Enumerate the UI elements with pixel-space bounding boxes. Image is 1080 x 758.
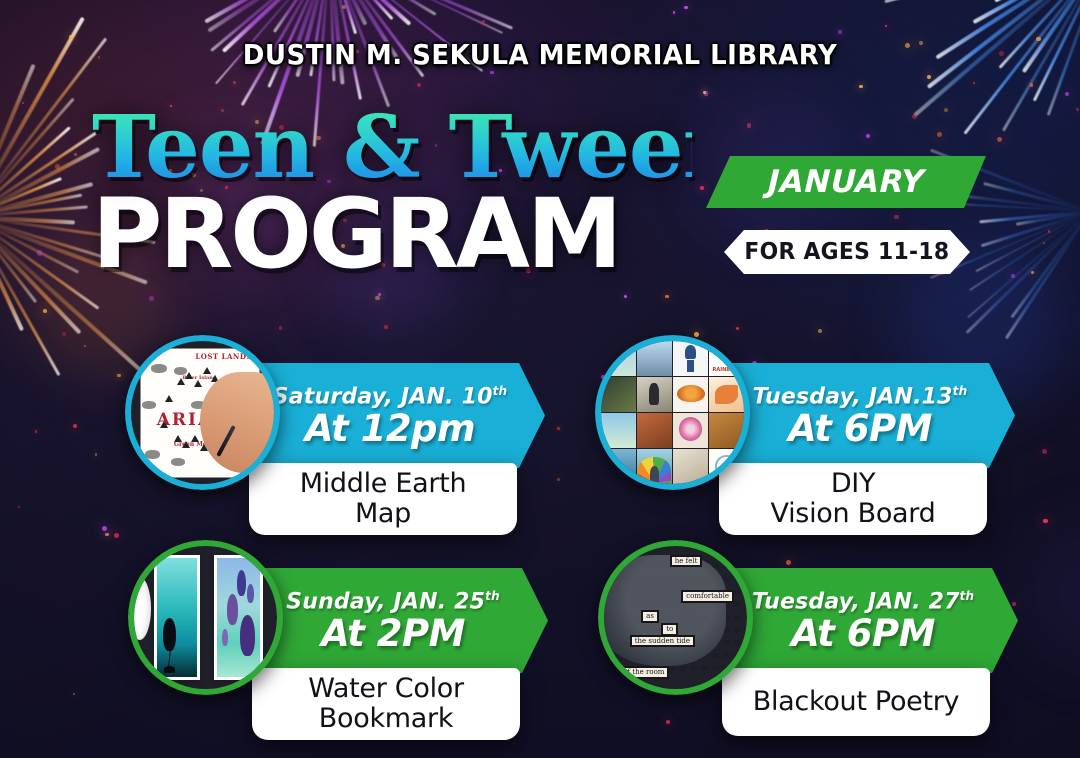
firework-ray <box>969 210 1080 291</box>
firework-ray <box>328 0 367 25</box>
event-time: At 6PM <box>791 615 935 654</box>
spark-dot <box>1076 108 1079 111</box>
event-date: Saturday, JAN. 10th <box>273 384 508 409</box>
event-thumbnail-blackout-poetry: he felt comfortable as to the sudden tid… <box>598 540 753 695</box>
firework-ray <box>329 0 393 20</box>
event-banner: Sunday, JAN. 25th At 2PM <box>238 568 548 673</box>
glow-blob <box>1020 520 1080 670</box>
event-thumbnail-watercolor-bookmarks <box>128 540 283 695</box>
thumbnail-ring <box>598 540 753 695</box>
event-title: Middle EarthMap <box>300 469 467 529</box>
firework-ray <box>0 215 105 259</box>
firework-ray <box>975 210 1080 272</box>
thumbnail-ring <box>128 540 283 695</box>
firework-ray <box>329 0 513 30</box>
spark-dot <box>490 71 494 75</box>
spark-dot <box>673 11 675 13</box>
firework-ray <box>0 216 61 377</box>
event-banner: Tuesday, JAN. 27th At 6PM <box>708 568 1018 673</box>
firework-ray <box>1047 0 1080 116</box>
spark-dot <box>624 295 627 298</box>
event-title: DIYVision Board <box>771 469 936 529</box>
spark-dot <box>747 123 752 128</box>
event-date: Tuesday, JAN.13th <box>753 384 968 409</box>
spark-dot <box>1043 242 1045 244</box>
spark-dot <box>417 83 421 87</box>
event-card[interactable]: Sunday, JAN. 25th At 2PM Water ColorBook… <box>128 540 548 745</box>
firework-ray <box>972 0 1080 24</box>
spark-dot <box>22 102 25 105</box>
firework-ray <box>966 210 1080 333</box>
firework-ray <box>0 193 83 218</box>
poster-canvas: DUSTIN M. SEKULA MEMORIAL LIBRARY Teen &… <box>0 0 1080 758</box>
spark-dot <box>114 533 119 538</box>
event-thumbnail-vision-board: RAINBOWS <box>595 335 750 490</box>
event-time: At 12pm <box>305 410 475 449</box>
event-title-box: Middle EarthMap <box>249 463 517 535</box>
firework-ray <box>0 64 35 218</box>
spark-dot <box>84 345 86 347</box>
spark-dot <box>997 137 1002 142</box>
event-title: Blackout Poetry <box>753 687 960 717</box>
spark-dot <box>866 134 870 138</box>
firework-ray <box>207 0 331 33</box>
event-time: At 6PM <box>788 410 932 449</box>
event-card[interactable]: Saturday, JAN. 10th At 12pm Middle Earth… <box>125 335 545 540</box>
firework-ray <box>273 0 331 33</box>
firework-ray <box>994 0 1080 2</box>
title-line-teen-tween: Teen & Tween <box>92 108 692 187</box>
spark-dot <box>973 82 976 85</box>
spark-dot <box>1043 519 1047 523</box>
spark-dot <box>838 30 842 34</box>
thumbnail-ring <box>595 335 750 490</box>
thumbnail-ring <box>125 335 280 490</box>
spark-dot <box>665 295 668 298</box>
poster-title: Teen & Tween PROGRAM <box>92 108 692 280</box>
firework-ray <box>329 0 437 16</box>
firework-ray <box>0 177 62 218</box>
event-date: Sunday, JAN. 25th <box>286 589 500 614</box>
month-badge: JANUARY <box>706 156 986 208</box>
month-badge-label: JANUARY <box>767 164 924 200</box>
event-banner: Tuesday, JAN.13th At 6PM <box>705 363 1015 468</box>
event-card[interactable]: Tuesday, JAN.13th At 6PM DIYVision Board… <box>595 335 1015 540</box>
spark-dot <box>557 427 559 429</box>
firework-ray <box>0 126 71 218</box>
spark-dot <box>1065 92 1070 97</box>
spark-dot <box>704 91 709 96</box>
firework-ray <box>0 132 97 218</box>
spark-dot <box>279 326 283 330</box>
spark-dot <box>912 114 917 119</box>
spark-dot <box>818 329 822 333</box>
spark-dot <box>859 85 862 88</box>
firework-ray <box>981 210 1080 247</box>
spark-dot <box>233 81 236 84</box>
event-date: Tuesday, JAN. 27th <box>752 589 975 614</box>
event-banner: Saturday, JAN. 10th At 12pm <box>235 363 545 468</box>
firework-ray <box>0 182 93 219</box>
spark-dot <box>18 506 20 508</box>
spark-dot <box>102 526 107 531</box>
firework-ray <box>0 215 79 274</box>
spark-dot <box>43 309 47 313</box>
firework-ray <box>0 147 100 218</box>
event-time: At 2PM <box>321 615 465 654</box>
event-title: Water ColorBookmark <box>308 674 464 734</box>
ages-badge-label: FOR AGES 11-18 <box>745 239 950 265</box>
firework-ray <box>329 0 412 26</box>
spark-dot <box>73 693 75 695</box>
firework-ray <box>1011 211 1080 319</box>
title-line-program: PROGRAM <box>92 189 692 280</box>
spark-dot <box>73 424 77 428</box>
firework-ray <box>0 216 37 304</box>
spark-dot <box>885 25 888 28</box>
spark-dot <box>37 250 42 255</box>
spark-dot <box>55 164 59 168</box>
firework-ray <box>967 210 1080 318</box>
firework-ray <box>0 98 75 218</box>
firework-ray <box>885 0 1080 3</box>
firework-ray <box>328 0 357 34</box>
spark-dot <box>927 75 931 79</box>
event-title-box: DIYVision Board <box>719 463 987 535</box>
firework-ray <box>0 205 87 218</box>
firework-ray <box>0 215 74 224</box>
firework-ray <box>1016 210 1080 226</box>
event-title-box: Water ColorBookmark <box>252 668 520 740</box>
spark-dot <box>149 296 154 301</box>
spark-dot <box>894 215 899 220</box>
event-title-box: Blackout Poetry <box>722 668 990 736</box>
library-name: DUSTIN M. SEKULA MEMORIAL LIBRARY <box>38 38 1042 71</box>
spark-dot <box>684 6 688 10</box>
spark-dot <box>105 533 108 536</box>
spark-dot <box>74 153 77 156</box>
spark-dot <box>1048 230 1051 233</box>
firework-ray <box>979 210 1080 223</box>
spark-dot <box>482 20 485 23</box>
spark-dot <box>384 325 388 329</box>
spark-dot <box>557 478 560 481</box>
spark-dot <box>1030 83 1033 86</box>
spark-dot <box>95 453 98 456</box>
firework-ray <box>205 0 331 23</box>
spark-dot <box>1042 449 1047 454</box>
firework-ray <box>329 0 502 34</box>
spark-dot <box>378 293 381 296</box>
event-thumbnail-middle-earth-map: LOST LANDS ARIADOR Green Mountains River… <box>125 335 280 490</box>
spark-dot <box>342 5 346 9</box>
spark-dot <box>703 91 706 94</box>
firework-ray <box>0 215 100 310</box>
spark-dot <box>937 132 942 137</box>
spark-dot <box>117 374 120 377</box>
ages-badge: FOR AGES 11-18 <box>724 230 970 274</box>
spark-dot <box>375 296 379 300</box>
spark-dot <box>736 327 739 330</box>
spark-dot <box>35 430 37 432</box>
spark-dot <box>62 332 66 336</box>
spark-dot <box>944 108 949 113</box>
spark-dot <box>1011 274 1015 278</box>
firework-ray <box>0 216 81 334</box>
event-card[interactable]: Tuesday, JAN. 27th At 6PM Blackout Poetr… <box>598 540 1018 745</box>
firework-ray <box>983 182 1080 212</box>
firework-ray <box>1005 211 1080 340</box>
firework-ray <box>0 216 24 331</box>
spark-dot <box>1031 271 1034 274</box>
